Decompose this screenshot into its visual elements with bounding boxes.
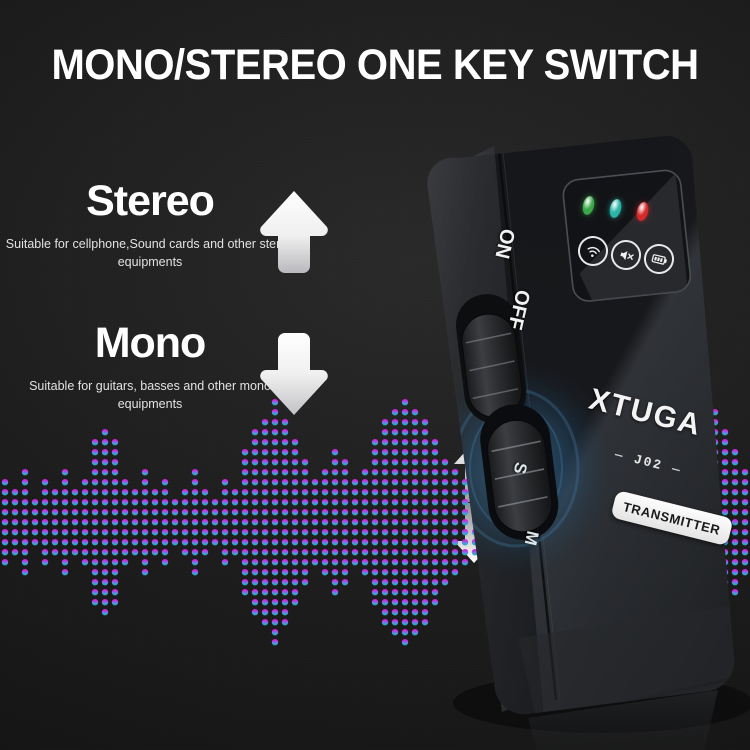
mute-icon[interactable] — [608, 237, 644, 273]
feature-subtitle-stereo: Suitable for cellphone,Sound cards and o… — [0, 235, 300, 271]
feature-block-stereo: Stereo Suitable for cellphone,Sound card… — [0, 180, 300, 271]
feature-heading-mono: Mono — [0, 322, 300, 365]
arrow-up-icon — [258, 188, 330, 276]
battery-icon[interactable] — [641, 241, 677, 277]
led-power — [581, 195, 596, 216]
wireless-pair-icon[interactable] — [575, 233, 611, 269]
led-link — [608, 198, 623, 219]
led-indicator-group — [583, 194, 673, 224]
feature-heading-stereo: Stereo — [0, 180, 300, 223]
page-title: MONO/STEREO ONE KEY SWITCH — [26, 44, 724, 87]
audio-waveform-chart — [0, 398, 750, 668]
device-button-group — [578, 232, 678, 278]
model-dash-left: — — [613, 447, 626, 464]
led-status — [635, 201, 650, 222]
